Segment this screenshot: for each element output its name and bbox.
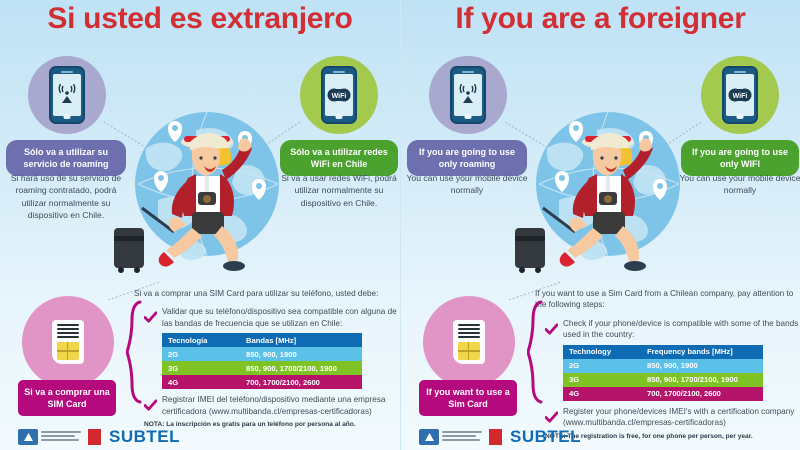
page-title: Si usted es extranjero	[0, 2, 400, 36]
traveler-globe-illustration	[513, 92, 703, 292]
phone-notch	[462, 71, 474, 73]
cell-antenna-icon	[56, 84, 78, 106]
roaming-badge: If you are going to use only roaming	[407, 140, 527, 176]
cell-technology: 2G	[162, 347, 240, 361]
table-row: 2G 850, 900, 1900	[162, 347, 362, 361]
cell-antenna-icon	[457, 84, 479, 106]
sim-chip	[57, 342, 79, 360]
check-icon	[545, 318, 558, 341]
sim-icon-circle	[22, 296, 114, 388]
traveler-globe-illustration	[112, 92, 302, 292]
flag-block	[489, 429, 502, 445]
sim-card-icon	[453, 320, 485, 364]
wifi-badge: If you are going to use only WIFI	[681, 140, 799, 176]
wifi-description: Si va a usar redes WiFi, podrá utilizar …	[278, 172, 400, 209]
sim-contact-lines	[458, 324, 480, 338]
sim-steps-section: Si va a comprar una SIM Card para utiliz…	[126, 288, 398, 428]
cell-technology: 4G	[162, 375, 240, 389]
phone-screen: WiFi	[325, 74, 353, 116]
phone-roaming-icon	[49, 66, 85, 124]
ministry-text-bars	[41, 429, 85, 445]
phone-home-button	[64, 114, 71, 119]
cell-bands: 700, 1700/2100, 2600	[641, 387, 763, 401]
phone-notch	[734, 71, 746, 73]
phone-wifi-icon: WiFi	[722, 66, 758, 124]
table-row: 3G 850, 900, 1700/2100, 1900	[563, 373, 763, 387]
subtel-brand: SUBTEL	[109, 427, 180, 447]
phone-notch	[61, 71, 73, 73]
footer-logos: SUBTEL	[0, 424, 400, 450]
sim-chip	[458, 342, 480, 360]
sim-badge: If you want to use a Sim Card	[419, 380, 517, 416]
wifi-description: You can use your mobile device normally	[679, 172, 800, 197]
phone-roaming-icon	[450, 66, 486, 124]
phone-home-button	[465, 114, 472, 119]
col-header-technology: Tecnología	[162, 333, 240, 347]
panel-spanish: Si usted es extranjero	[0, 0, 400, 450]
check-icon	[144, 394, 157, 417]
phone-notch	[333, 71, 345, 73]
phone-home-button	[737, 114, 744, 119]
table-header-row: Tecnología Bandas [MHz]	[162, 333, 362, 347]
frequency-bands-table: Technology Frequency bands [MHz] 2G 850,…	[563, 345, 763, 401]
step-text: Check if your phone/device is compatible…	[563, 318, 799, 341]
table-row: 3G 850, 900, 1700/2100, 1900	[162, 361, 362, 375]
sim-icon-circle	[423, 296, 515, 388]
wifi-badge: Sólo va a utilizar redes WiFi en Chile	[280, 140, 398, 176]
col-header-bands: Bandas [MHz]	[240, 333, 362, 347]
sim-contact-lines	[57, 324, 79, 338]
brace-decoration	[126, 300, 142, 404]
table-row: 2G 850, 900, 1900	[563, 359, 763, 373]
government-logo	[419, 429, 502, 445]
crest-icon	[18, 429, 38, 445]
cell-bands: 850, 900, 1700/2100, 1900	[641, 373, 763, 387]
step-item: Check if your phone/device is compatible…	[545, 318, 799, 341]
subtel-brand: SUBTEL	[510, 427, 581, 447]
roaming-icon-circle	[429, 56, 507, 134]
cell-technology: 4G	[563, 387, 641, 401]
sim-badge: Si va a comprar una SIM Card	[18, 380, 116, 416]
phone-home-button	[336, 114, 343, 119]
wifi-icon-circle: WiFi	[701, 56, 779, 134]
sim-card-icon	[52, 320, 84, 364]
flag-block	[88, 429, 101, 445]
table-row: 4G 700, 1700/2100, 2600	[563, 387, 763, 401]
cell-bands: 700, 1700/2100, 2600	[240, 375, 362, 389]
step-item: Registrar IMEI del teléfono/dispositivo …	[144, 394, 398, 417]
brace-decoration	[527, 300, 543, 404]
wifi-icon-circle: WiFi	[300, 56, 378, 134]
crest-icon	[419, 429, 439, 445]
phone-wifi-icon: WiFi	[321, 66, 357, 124]
steps-intro: Si va a comprar una SIM Card para utiliz…	[134, 288, 398, 299]
ministry-text-bars	[442, 429, 486, 445]
cell-technology: 3G	[563, 373, 641, 387]
infographic-poster: Si usted es extranjero	[0, 0, 800, 450]
col-header-technology: Technology	[563, 345, 641, 359]
table-row: 4G 700, 1700/2100, 2600	[162, 375, 362, 389]
cell-bands: 850, 900, 1700/2100, 1900	[240, 361, 362, 375]
table-header-row: Technology Frequency bands [MHz]	[563, 345, 763, 359]
step-item: Validar que su teléfono/dispositivo sea …	[144, 306, 398, 329]
sim-steps-section: If you want to use a Sim Card from a Chi…	[527, 288, 799, 440]
phone-screen: WiFi	[726, 74, 754, 116]
government-logo	[18, 429, 101, 445]
page-title: If you are a foreigner	[401, 2, 800, 36]
roaming-description: Si hará uso de su servicio de roaming co…	[4, 172, 128, 222]
cell-bands: 850, 900, 1900	[641, 359, 763, 373]
step-text: Validar que su teléfono/dispositivo sea …	[162, 306, 398, 329]
check-icon	[144, 306, 157, 329]
frequency-bands-table: Tecnología Bandas [MHz] 2G 850, 900, 190…	[162, 333, 362, 389]
steps-intro: If you want to use a Sim Card from a Chi…	[535, 288, 799, 311]
roaming-icon-circle	[28, 56, 106, 134]
phone-screen	[53, 74, 81, 116]
phone-screen	[454, 74, 482, 116]
cell-technology: 3G	[162, 361, 240, 375]
panel-english: If you are a foreigner	[400, 0, 800, 450]
footer-logos: SUBTEL	[401, 424, 800, 450]
wifi-icon: WiFi	[728, 87, 752, 103]
col-header-bands: Frequency bands [MHz]	[641, 345, 763, 359]
cell-technology: 2G	[563, 359, 641, 373]
svg-text:WiFi: WiFi	[332, 93, 347, 100]
wifi-icon: WiFi	[327, 87, 351, 103]
cell-bands: 850, 900, 1900	[240, 347, 362, 361]
svg-text:WiFi: WiFi	[733, 93, 748, 100]
roaming-badge: Sólo va a utilizar su servicio de roamin…	[6, 140, 126, 176]
roaming-description: You can use your mobile device normally	[405, 172, 529, 197]
step-text: Registrar IMEI del teléfono/dispositivo …	[162, 394, 398, 417]
